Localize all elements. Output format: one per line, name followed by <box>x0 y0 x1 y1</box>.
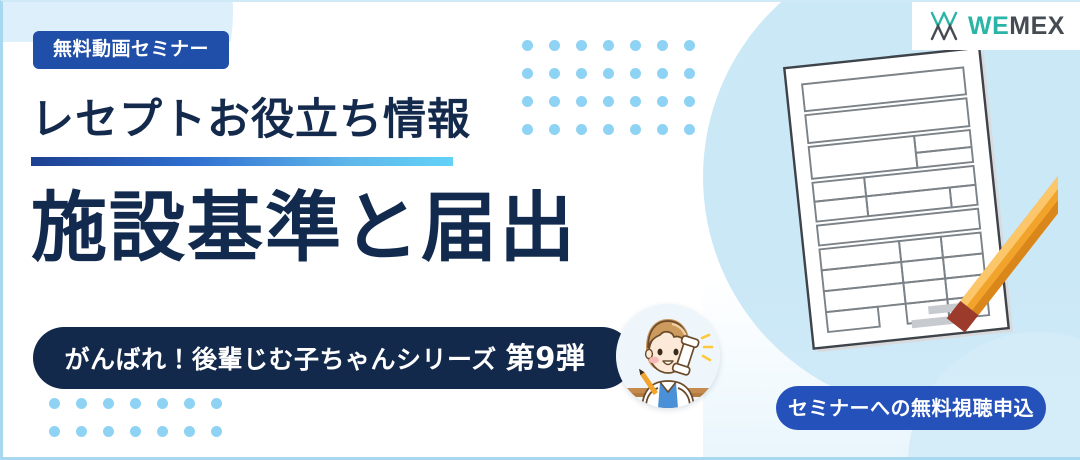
wemex-mark-icon <box>927 9 961 43</box>
wordmark-mex: MEX <box>1009 12 1065 40</box>
series-title: がんばれ！後輩じむ子ちゃんシリーズ <box>65 345 497 374</box>
banner-headline: 施設基準と届出 <box>31 190 577 266</box>
banner-content: 無料動画セミナー レセプトお役立ち情報 施設基準と届出 がんばれ！後輩じむ子ちゃ… <box>3 2 703 460</box>
wordmark-we: WE <box>968 12 1009 40</box>
series-label: がんばれ！後輩じむ子ちゃんシリーズ第9弾 <box>65 344 586 373</box>
medical-form-document-with-pencil-icon <box>758 42 1058 387</box>
character-avatar <box>616 304 720 408</box>
form-document-illustration <box>758 42 1058 387</box>
series-pill: がんばれ！後輩じむ子ちゃんシリーズ第9弾 <box>33 327 633 389</box>
seminar-banner: WEMEX 無料動画セミナー レセプトお役立ち情報 施設基準と届出 がんばれ！後… <box>0 0 1080 460</box>
banner-subheading: レセプトお役立ち情報 <box>31 99 471 142</box>
free-video-seminar-badge: 無料動画セミナー <box>33 31 229 69</box>
series-volume: 第9弾 <box>506 341 586 375</box>
wemex-wordmark: WEMEX <box>968 14 1065 39</box>
office-worker-on-phone-avatar-icon <box>616 304 720 408</box>
seminar-signup-button[interactable]: セミナーへの無料視聴申込 <box>776 386 1046 430</box>
wemex-logo: WEMEX <box>912 2 1080 50</box>
gradient-underline <box>31 157 453 166</box>
